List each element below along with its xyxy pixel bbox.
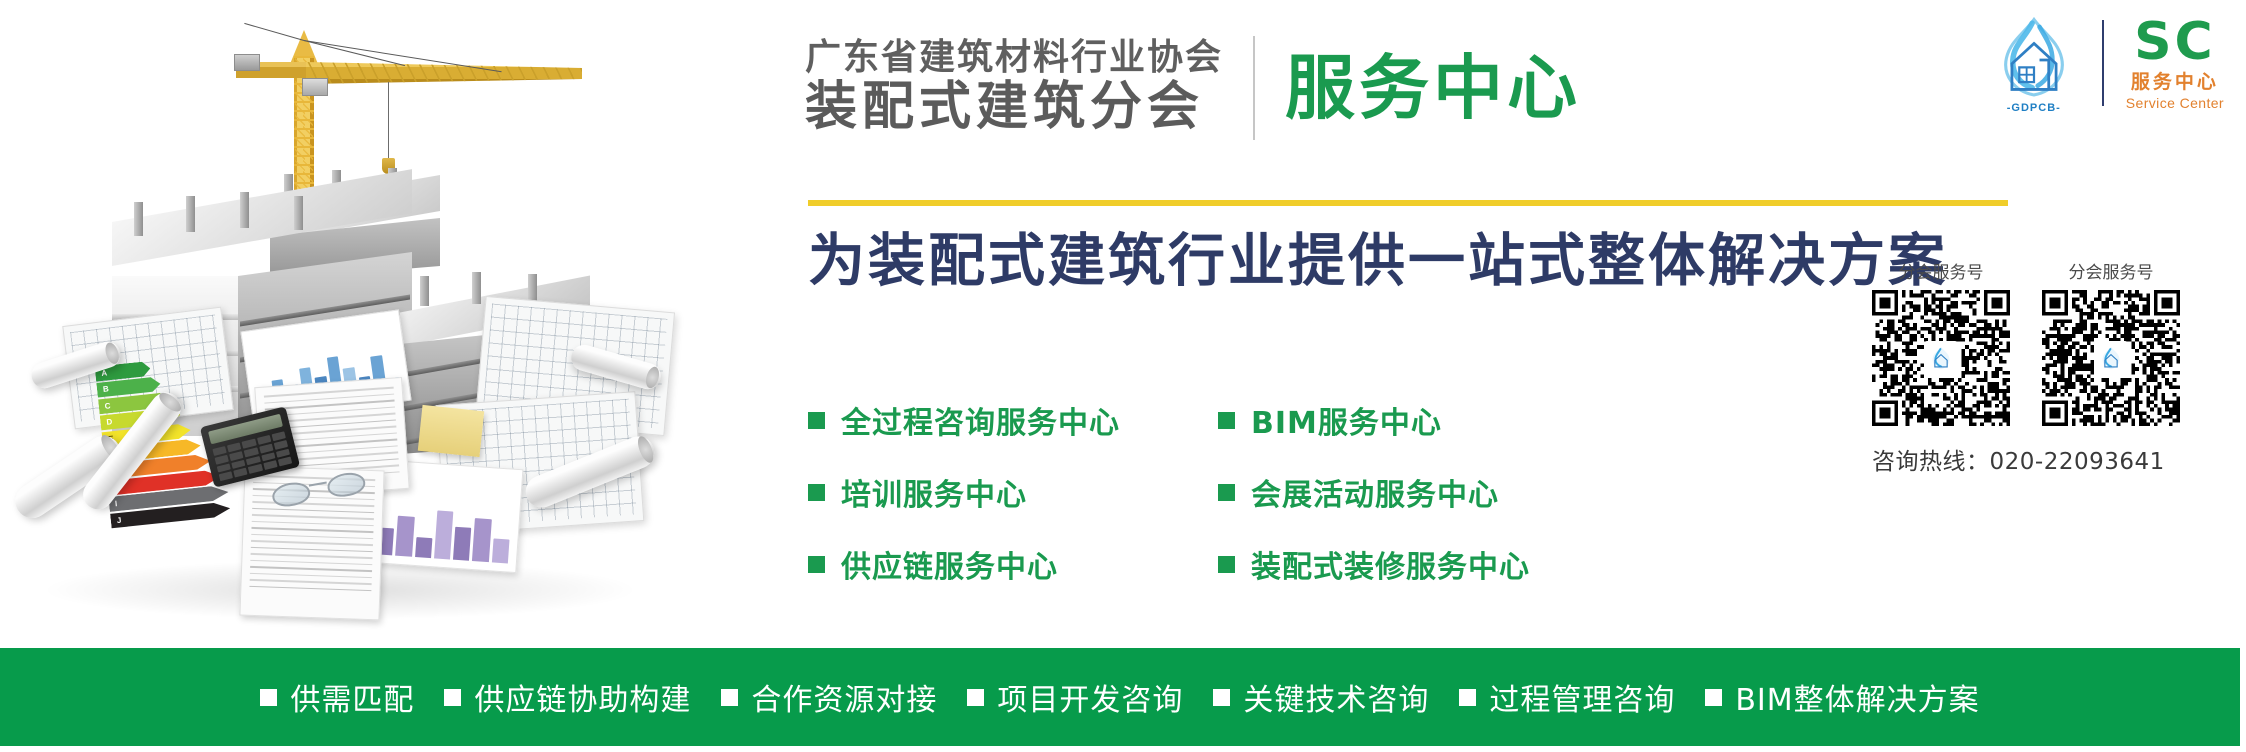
crane-cab <box>302 78 328 96</box>
qr-center-logo-icon <box>2094 341 2128 375</box>
crane-jib <box>306 62 582 84</box>
gdpcb-wordmark: -GDPCB- <box>1988 102 2080 114</box>
service-center-title: 服务中心 <box>1285 53 1581 123</box>
bullet-square-icon <box>1705 689 1722 706</box>
sc-initials: SC <box>2134 16 2216 68</box>
service-item[interactable]: 装配式装修服务中心 <box>1218 542 1628 586</box>
service-item-label: 全过程咨询服务中心 <box>841 398 1120 442</box>
service-item-label: BIM服务中心 <box>1251 398 1442 442</box>
bullet-square-icon <box>1213 689 1230 706</box>
bottom-tag[interactable]: BIM整体解决方案 <box>1705 675 1979 719</box>
bullet-square-icon <box>967 689 984 706</box>
bullet-square-icon <box>1459 689 1476 706</box>
bullet-square-icon <box>1218 412 1235 429</box>
rebar-column <box>186 196 195 232</box>
service-item-label: 培训服务中心 <box>841 470 1027 514</box>
bullet-square-icon <box>260 689 277 706</box>
sticky-note <box>418 405 484 457</box>
chart-bars <box>376 495 512 563</box>
bullet-square-icon <box>444 689 461 706</box>
bullet-square-icon <box>808 556 825 573</box>
qr-center-logo-icon <box>1924 341 1958 375</box>
bullet-square-icon <box>721 689 738 706</box>
rebar-column <box>240 192 249 228</box>
bottom-tag[interactable]: 供需匹配 <box>260 675 414 719</box>
header-title-row: 广东省建筑材料行业协会 装配式建筑分会 服务中心 <box>805 36 1581 140</box>
bottom-tag[interactable]: 合作资源对接 <box>721 675 937 719</box>
branch-name: 装配式建筑分会 <box>805 78 1204 136</box>
qr-caption: 分会服务号 <box>1872 258 2010 283</box>
banner-root: A B C D E F G H I J <box>0 0 2246 752</box>
qr-contact-block: 分会服务号 分会服务号 <box>1866 258 2226 476</box>
service-list: 全过程咨询服务中心 BIM服务中心 培训服务中心 会展活动服务中心 供应链服务中… <box>808 398 1808 586</box>
tagline: 为装配式建筑行业提供一站式整体解决方案 <box>808 228 1948 295</box>
hotline-text: 咨询热线：020-22093641 <box>1866 442 2226 476</box>
rebar-column <box>134 202 143 236</box>
documents-pile: A B C D E F G H I J <box>10 290 680 630</box>
organization-title: 广东省建筑材料行业协会 装配式建筑分会 <box>805 39 1223 136</box>
lens-right <box>326 470 367 499</box>
qr-code-image[interactable] <box>1872 290 2010 426</box>
association-name: 广东省建筑材料行业协会 <box>805 39 1223 78</box>
bullet-square-icon <box>808 412 825 429</box>
title-divider <box>1253 36 1255 140</box>
bottom-tag-label: 过程管理咨询 <box>1489 675 1675 719</box>
lens-left <box>270 480 311 509</box>
qr-caption: 分会服务号 <box>2042 258 2180 283</box>
brand-logo[interactable]: -GDPCB- SC 服务中心 Service Center <box>1988 14 2224 112</box>
bullet-square-icon <box>1218 556 1235 573</box>
glasses-bridge <box>309 482 327 487</box>
qr-cell[interactable]: 分会服务号 <box>2042 258 2180 426</box>
qr-code-image[interactable] <box>2042 290 2180 426</box>
bottom-tag[interactable]: 过程管理咨询 <box>1459 675 1675 719</box>
bottom-tag-label: 供应链协助构建 <box>474 675 691 719</box>
crane-counterweight <box>234 54 260 71</box>
content-area: 广东省建筑材料行业协会 装配式建筑分会 服务中心 为装配式建筑行业提供一站式整体… <box>690 0 2246 648</box>
service-item[interactable]: 会展活动服务中心 <box>1218 470 1628 514</box>
service-item-label: 会展活动服务中心 <box>1251 470 1499 514</box>
hero-construction-image: A B C D E F G H I J <box>0 0 690 648</box>
rebar-column <box>294 196 303 230</box>
service-item[interactable]: 供应链服务中心 <box>808 542 1218 586</box>
sc-chinese-label: 服务中心 <box>2131 73 2219 92</box>
bottom-tag[interactable]: 供应链协助构建 <box>444 675 691 719</box>
service-item[interactable]: BIM服务中心 <box>1218 398 1628 442</box>
bottom-tag[interactable]: 项目开发咨询 <box>967 675 1183 719</box>
service-item[interactable]: 全过程咨询服务中心 <box>808 398 1218 442</box>
sc-lockup: SC 服务中心 Service Center <box>2126 16 2224 110</box>
service-item-label: 供应链服务中心 <box>841 542 1058 586</box>
sc-english-label: Service Center <box>2126 96 2224 110</box>
bullet-square-icon <box>1218 484 1235 501</box>
bottom-tag[interactable]: 关键技术咨询 <box>1213 675 1429 719</box>
logo-divider <box>2102 20 2104 106</box>
yellow-divider-rule <box>808 200 2008 206</box>
hero-stage: A B C D E F G H I J <box>0 0 690 648</box>
roof-slab <box>112 169 412 266</box>
bottom-tag-bar: 供需匹配 供应链协助构建 合作资源对接 项目开发咨询 关键技术咨询 过程管理咨询… <box>0 648 2240 746</box>
bottom-tag-label: 项目开发咨询 <box>997 675 1183 719</box>
qr-cell[interactable]: 分会服务号 <box>1872 258 2010 426</box>
bottom-tag-label: BIM整体解决方案 <box>1735 675 1979 719</box>
bottom-tag-label: 合作资源对接 <box>751 675 937 719</box>
gdpcb-flame-house-icon: -GDPCB- <box>1988 14 2080 112</box>
bottom-tag-label: 关键技术咨询 <box>1243 675 1429 719</box>
crane-hoist-line <box>388 82 389 160</box>
bullet-square-icon <box>808 484 825 501</box>
bottom-tag-label: 供需匹配 <box>290 675 414 719</box>
service-item-label: 装配式装修服务中心 <box>1251 542 1530 586</box>
service-item[interactable]: 培训服务中心 <box>808 470 1218 514</box>
qr-row: 分会服务号 分会服务号 <box>1866 258 2226 426</box>
